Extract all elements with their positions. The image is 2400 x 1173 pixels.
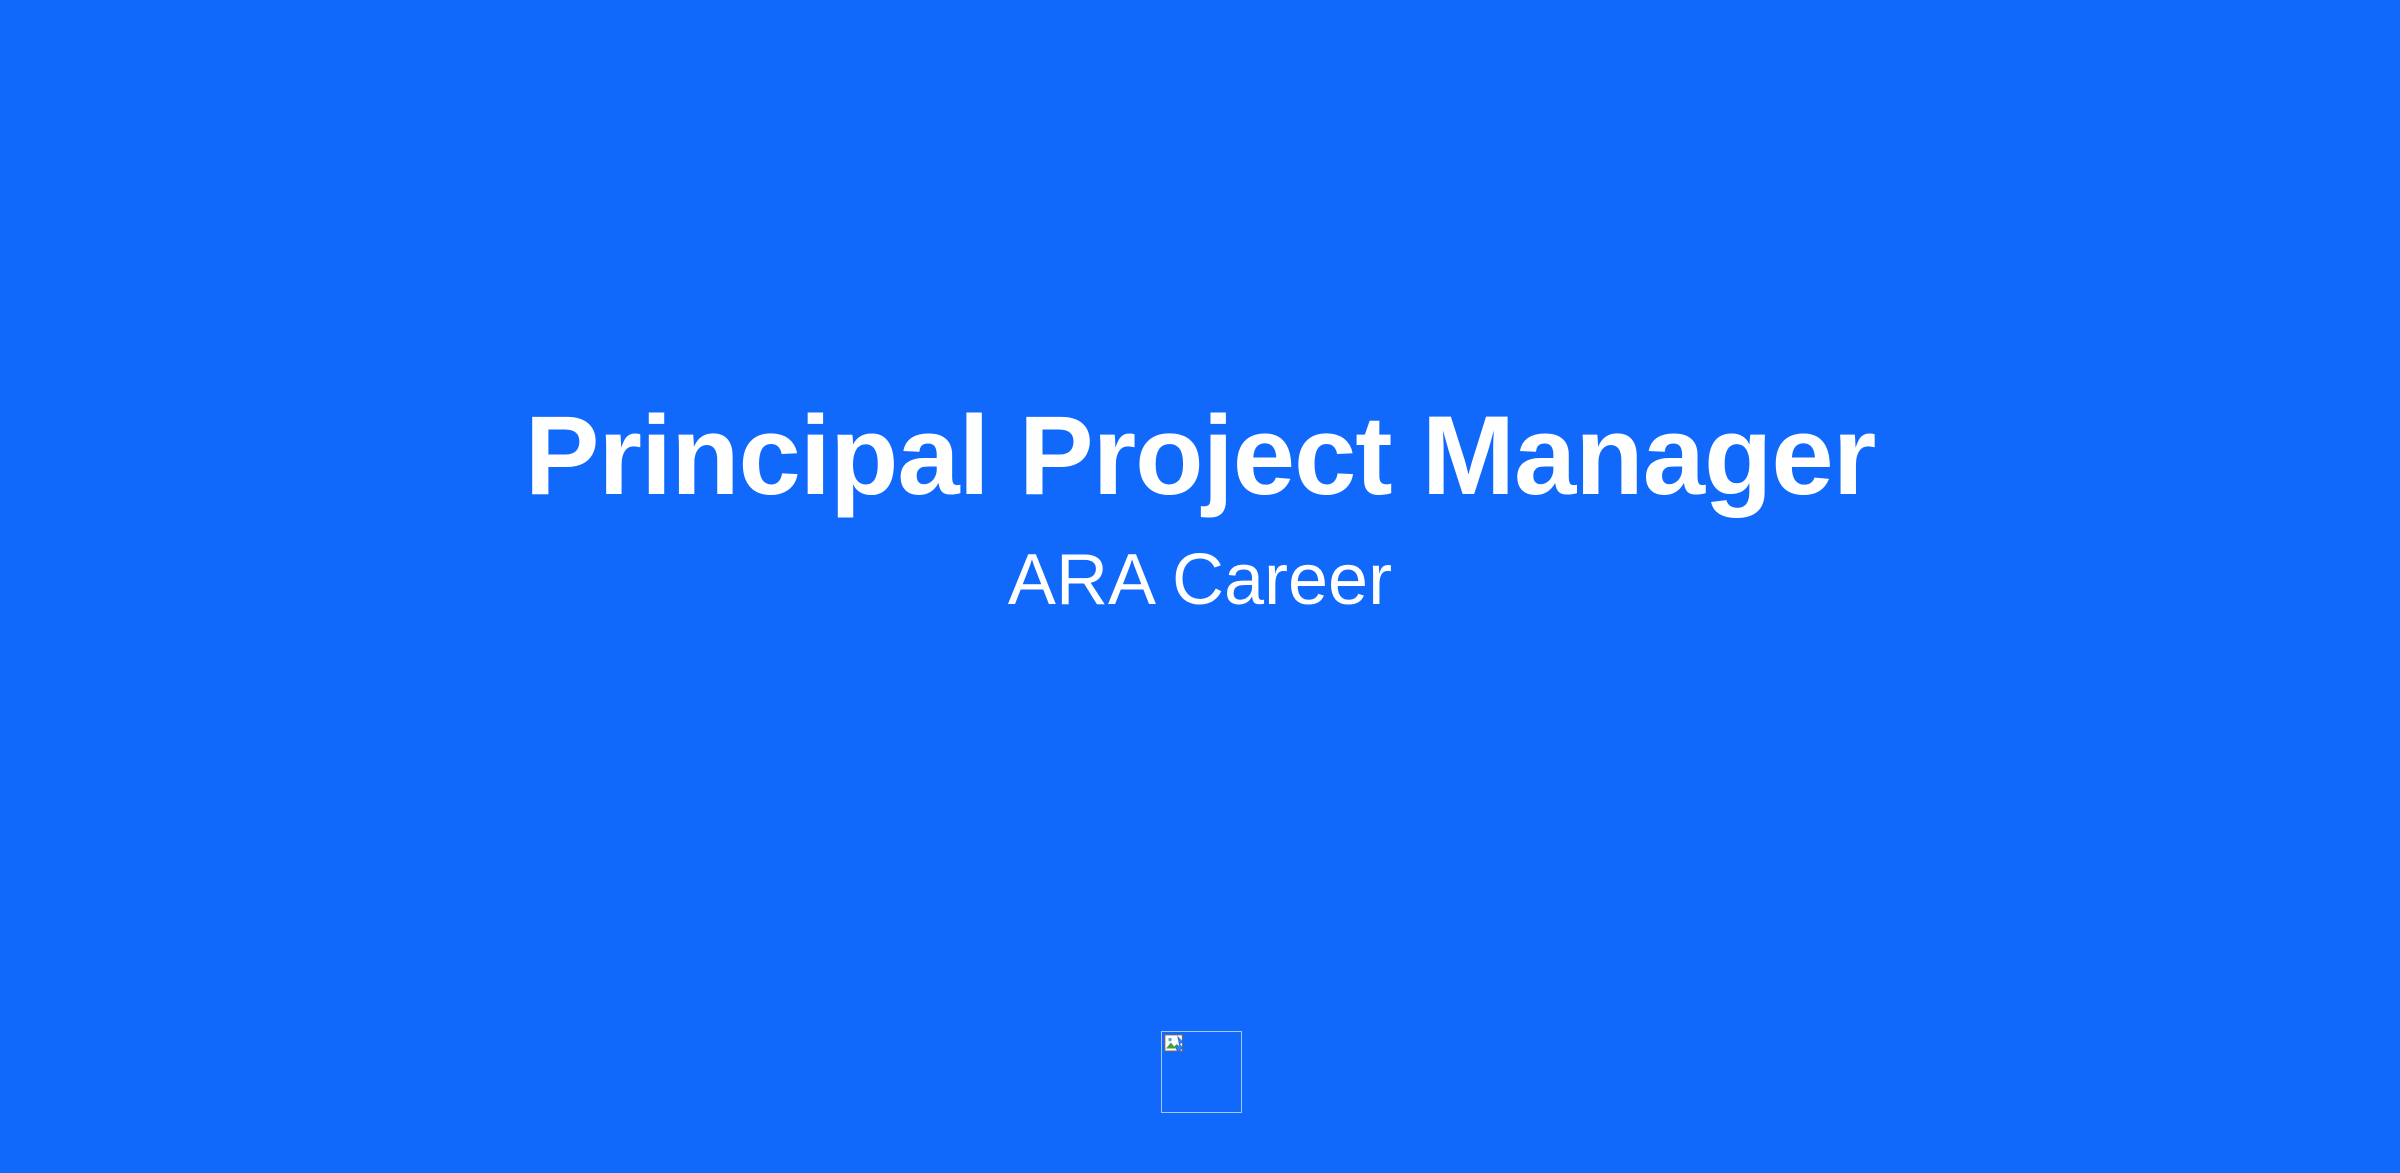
page-subtitle: ARA Career — [1008, 540, 1392, 621]
slide-hero-block: Principal Project Manager ARA Career — [0, 0, 2400, 1173]
slide-image-slot — [1161, 1031, 1242, 1113]
broken-image-icon — [1164, 1034, 1186, 1056]
broken-image-placeholder[interactable] — [1161, 1031, 1242, 1113]
page-title: Principal Project Manager — [525, 393, 1876, 518]
presentation-slide: Principal Project Manager ARA Career — [0, 0, 2400, 1173]
